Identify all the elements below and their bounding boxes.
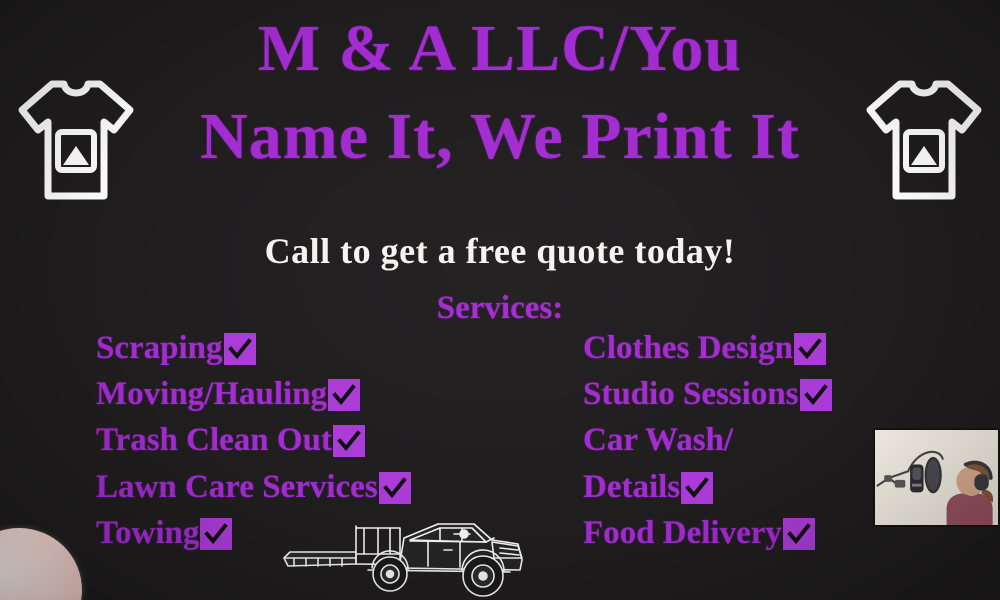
check-mark-icon (333, 425, 365, 457)
service-label: Trash Clean Out (96, 417, 332, 463)
services-column-right: Clothes Design Studio Sessions Car Wash/… (583, 325, 983, 556)
service-item: Towing (96, 510, 566, 556)
service-item: Details (583, 464, 983, 510)
check-mark-icon (328, 379, 360, 411)
service-item: Studio Sessions (583, 371, 983, 417)
check-mark-icon (783, 518, 815, 550)
service-label: Car Wash/ (583, 417, 733, 463)
services-column-left: Scraping Moving/Hauling Trash Clean Out … (96, 325, 566, 556)
service-item: Lawn Care Services (96, 464, 566, 510)
pink-circle-decoration (0, 528, 82, 600)
title-line-2: Name It, We Print It (0, 104, 1000, 170)
call-to-action-text: Call to get a free quote today! (0, 230, 1000, 272)
flyer-canvas: M & A LLC/You Name It, We Print It Call … (0, 0, 1000, 600)
service-label: Food Delivery (583, 510, 782, 556)
service-label: Lawn Care Services (96, 464, 378, 510)
check-mark-icon (800, 379, 832, 411)
tshirt-icon (862, 72, 986, 208)
service-item: Moving/Hauling (96, 371, 566, 417)
service-item: Car Wash/ (583, 417, 983, 463)
check-mark-icon (681, 472, 713, 504)
service-item: Trash Clean Out (96, 417, 566, 463)
service-item: Clothes Design (583, 325, 983, 371)
service-label: Clothes Design (583, 325, 793, 371)
service-item: Scraping (96, 325, 566, 371)
check-mark-icon (379, 472, 411, 504)
service-label: Scraping (96, 325, 223, 371)
service-label: Studio Sessions (583, 371, 799, 417)
flyer-title: M & A LLC/You Name It, We Print It (0, 16, 1000, 170)
service-label: Moving/Hauling (96, 371, 327, 417)
title-line-1: M & A LLC/You (0, 16, 1000, 82)
service-label: Towing (96, 510, 199, 556)
check-mark-icon (200, 518, 232, 550)
check-mark-icon (794, 333, 826, 365)
services-heading: Services: (0, 290, 1000, 327)
tshirt-icon (14, 72, 138, 208)
service-item: Food Delivery (583, 510, 983, 556)
check-mark-icon (224, 333, 256, 365)
service-label: Details (583, 464, 680, 510)
